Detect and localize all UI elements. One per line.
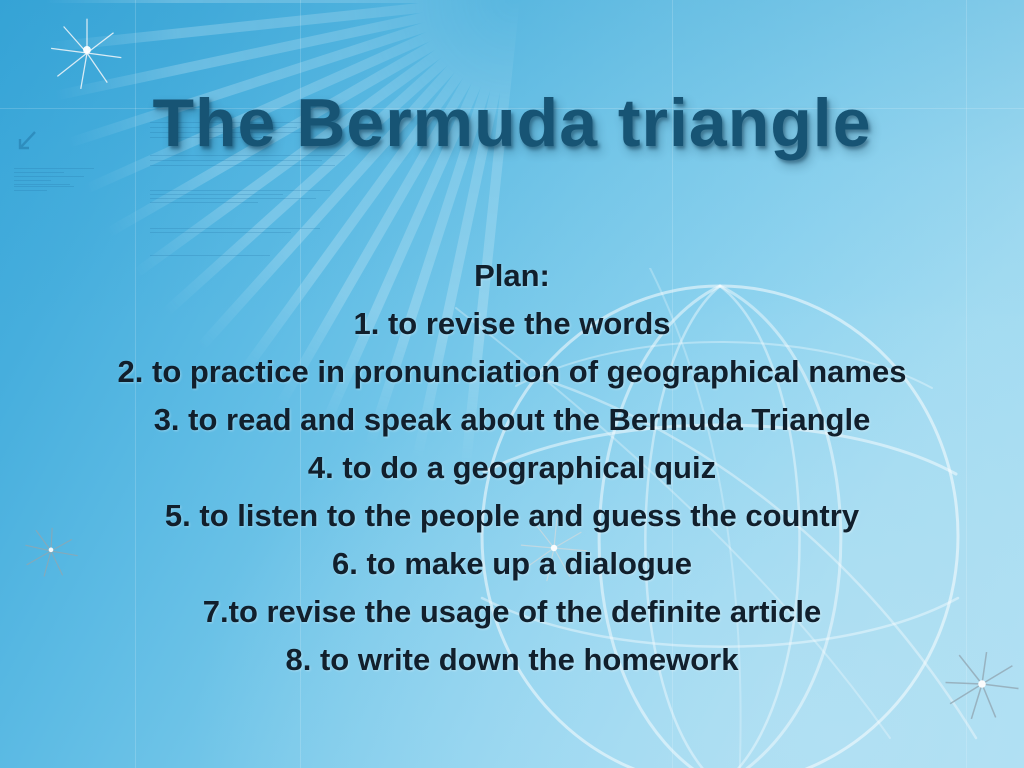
plan-item: 1. to revise the words <box>0 300 1024 348</box>
decorative-text-lines <box>150 190 330 206</box>
plan-item: 7.to revise the usage of the definite ar… <box>0 588 1024 636</box>
plan-item: 2. to practice in pronunciation of geogr… <box>0 348 1024 396</box>
plan-item: 8. to write down the homework <box>0 636 1024 684</box>
decorative-text-lines <box>14 186 74 194</box>
page-title: The Bermuda triangle <box>0 84 1024 162</box>
plan-item: 5. to listen to the people and guess the… <box>0 492 1024 540</box>
presentation-slide: The Bermuda triangle Plan: 1. to revise … <box>0 0 1024 768</box>
plan-item: 3. to read and speak about the Bermuda T… <box>0 396 1024 444</box>
decorative-text-lines <box>14 168 94 188</box>
plan-item: 6. to make up a dialogue <box>0 540 1024 588</box>
plan-heading: Plan: <box>0 252 1024 300</box>
plan-item: 4. to do a geographical quiz <box>0 444 1024 492</box>
plan-list: Plan: 1. to revise the words 2. to pract… <box>0 252 1024 684</box>
decorative-text-lines <box>150 228 320 236</box>
sparkle-icon <box>48 14 126 92</box>
